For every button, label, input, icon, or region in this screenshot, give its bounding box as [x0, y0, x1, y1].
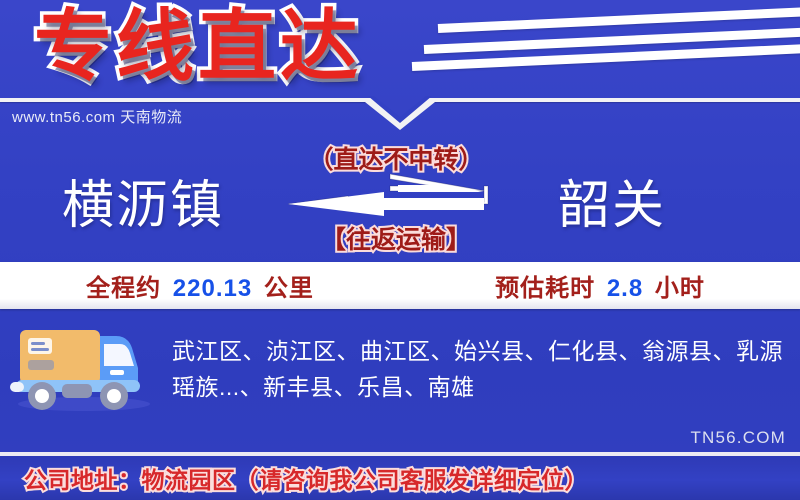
page-title: 专线直达 [34, 0, 362, 96]
total-distance-stat: 全程约 220.13 公里 [0, 268, 400, 303]
coverage-district-list: 武江区、浈江区、曲江区、始兴县、仁化县、翁源县、乳源瑶族...、新丰县、乐昌、南… [172, 334, 784, 405]
footer-bar: 公司地址：物流园区（请咨询我公司客服发详细定位） [0, 456, 800, 500]
bidirectional-arrow-icon [288, 174, 492, 222]
destination-city: 韶关 [558, 163, 666, 238]
estimated-duration-value: 2.8 [603, 275, 647, 302]
total-distance-label-prefix: 全程约 [86, 275, 161, 302]
delivery-truck-icon [8, 318, 160, 414]
total-distance-value: 220.13 [169, 275, 256, 302]
site-url-label: www.tn56.com 天南物流 [12, 106, 182, 127]
estimated-duration-label-prefix: 预估耗时 [495, 275, 595, 302]
divider-line-left [0, 98, 368, 102]
watermark-label: TN56.COM [690, 428, 786, 448]
route-note-roundtrip: 【往返运输】 [296, 220, 496, 256]
divider-line-right [432, 98, 800, 102]
estimated-duration-stat: 预估耗时 2.8 小时 [400, 268, 800, 303]
logistics-route-banner: 专线直达 www.tn56.com 天南物流 横沥镇 韶关 （直达不中转） 【往… [0, 0, 800, 500]
chevron-down-icon [360, 96, 440, 130]
route-note-direct: （直达不中转） [296, 140, 496, 176]
stats-band: 全程约 220.13 公里 预估耗时 2.8 小时 [0, 262, 800, 309]
company-address-label: 公司地址：物流园区（请咨询我公司客服发详细定位） [0, 461, 588, 495]
estimated-duration-label-suffix: 小时 [655, 275, 705, 302]
origin-city: 横沥镇 [62, 163, 224, 238]
total-distance-label-suffix: 公里 [264, 275, 314, 302]
